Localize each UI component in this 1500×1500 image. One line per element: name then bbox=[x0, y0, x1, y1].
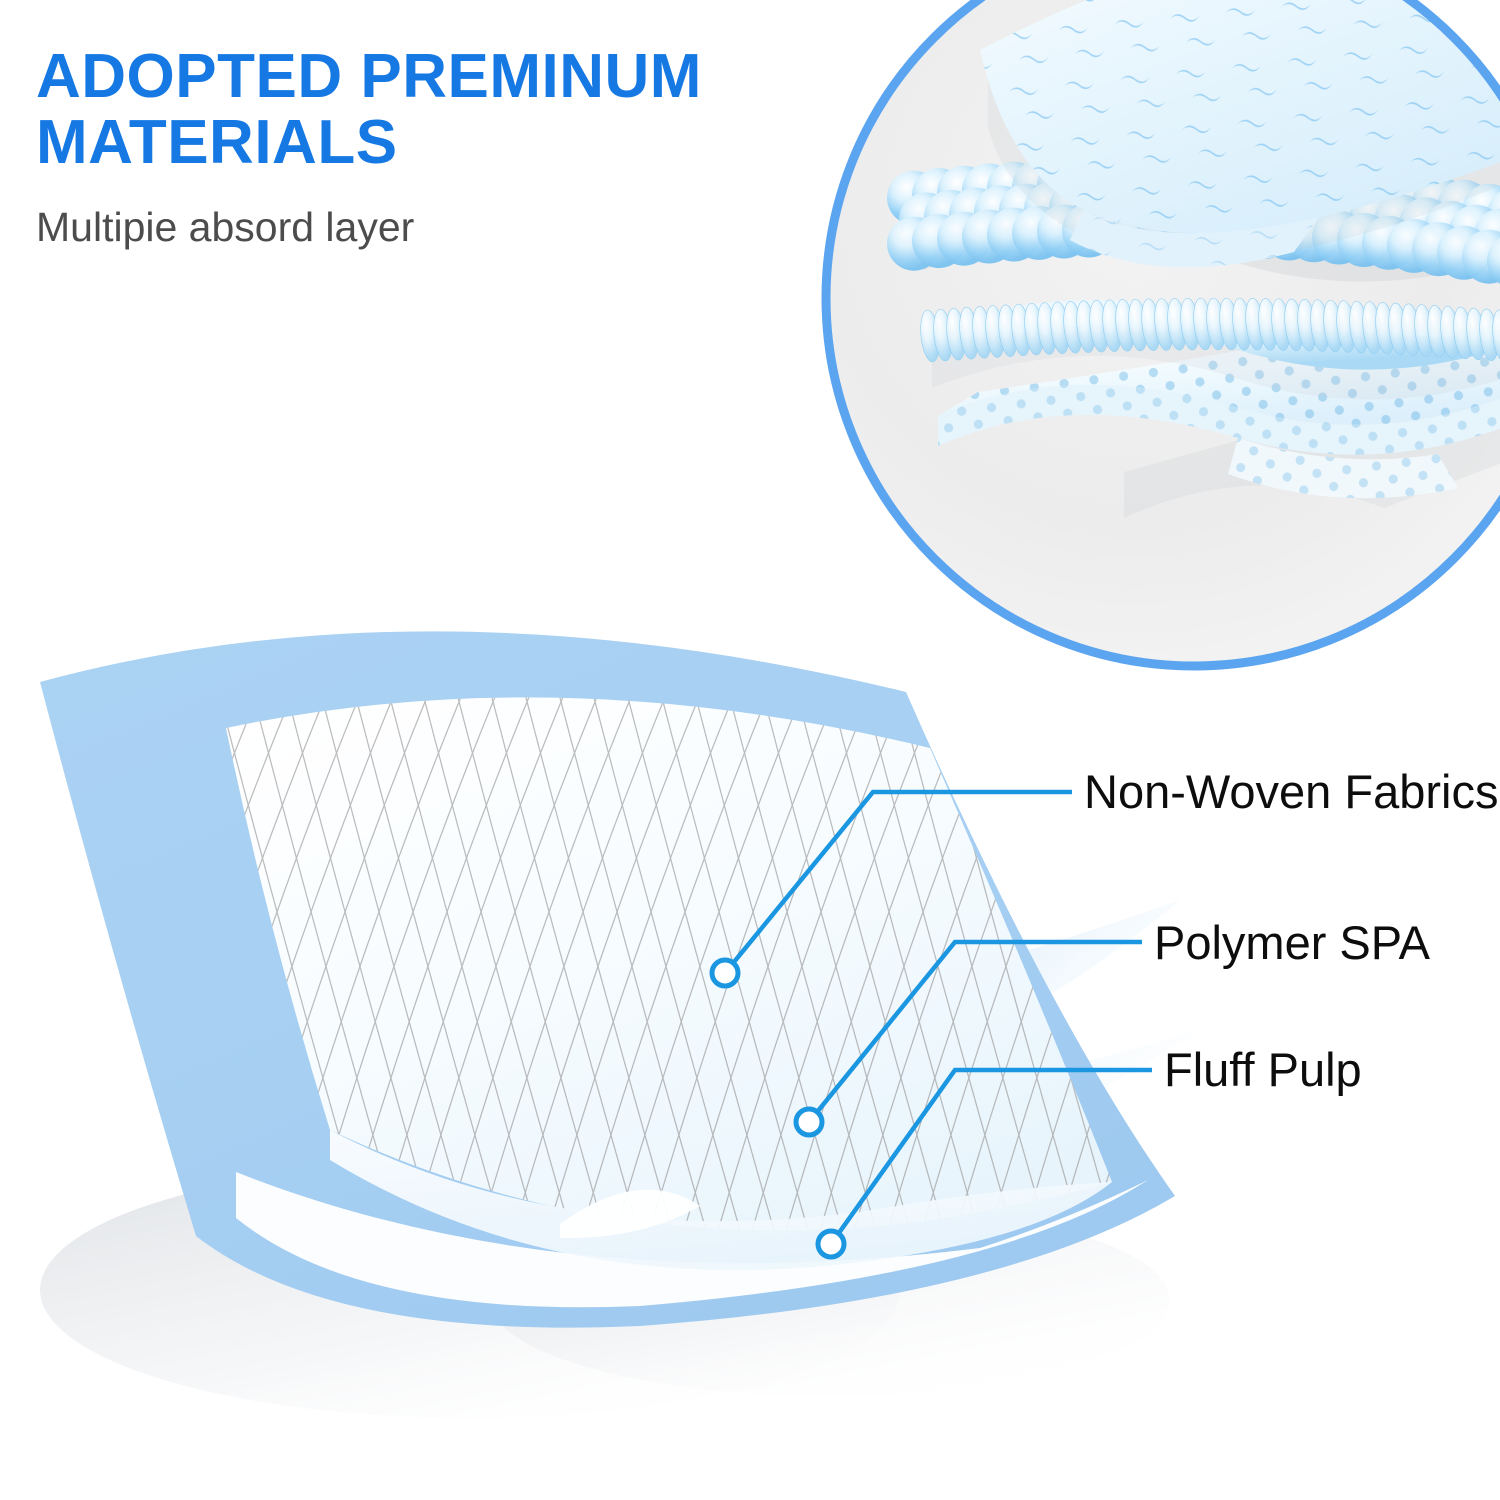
page-subtitle: Multipie absord layer bbox=[36, 204, 796, 250]
absorbent-pad-illustration bbox=[0, 600, 1220, 1420]
infographic-page: ADOPTED PREMINUM MATERIALS Multipie abso… bbox=[0, 0, 1500, 1500]
callout-label-polymer-spa: Polymer SPA bbox=[1154, 917, 1430, 969]
page-title-line-1: ADOPTED PREMINUM bbox=[36, 44, 796, 110]
heading-block: ADOPTED PREMINUM MATERIALS Multipie abso… bbox=[36, 44, 796, 250]
pad-svg bbox=[0, 600, 1220, 1420]
callout-label-fluff-pulp: Fluff Pulp bbox=[1164, 1044, 1362, 1096]
layer-stack-inset bbox=[818, 0, 1500, 674]
callout-label-non-woven-fabrics: Non-Woven Fabrics bbox=[1084, 766, 1498, 818]
layer-stack-svg bbox=[818, 0, 1500, 674]
page-title-line-2: MATERIALS bbox=[36, 110, 796, 176]
